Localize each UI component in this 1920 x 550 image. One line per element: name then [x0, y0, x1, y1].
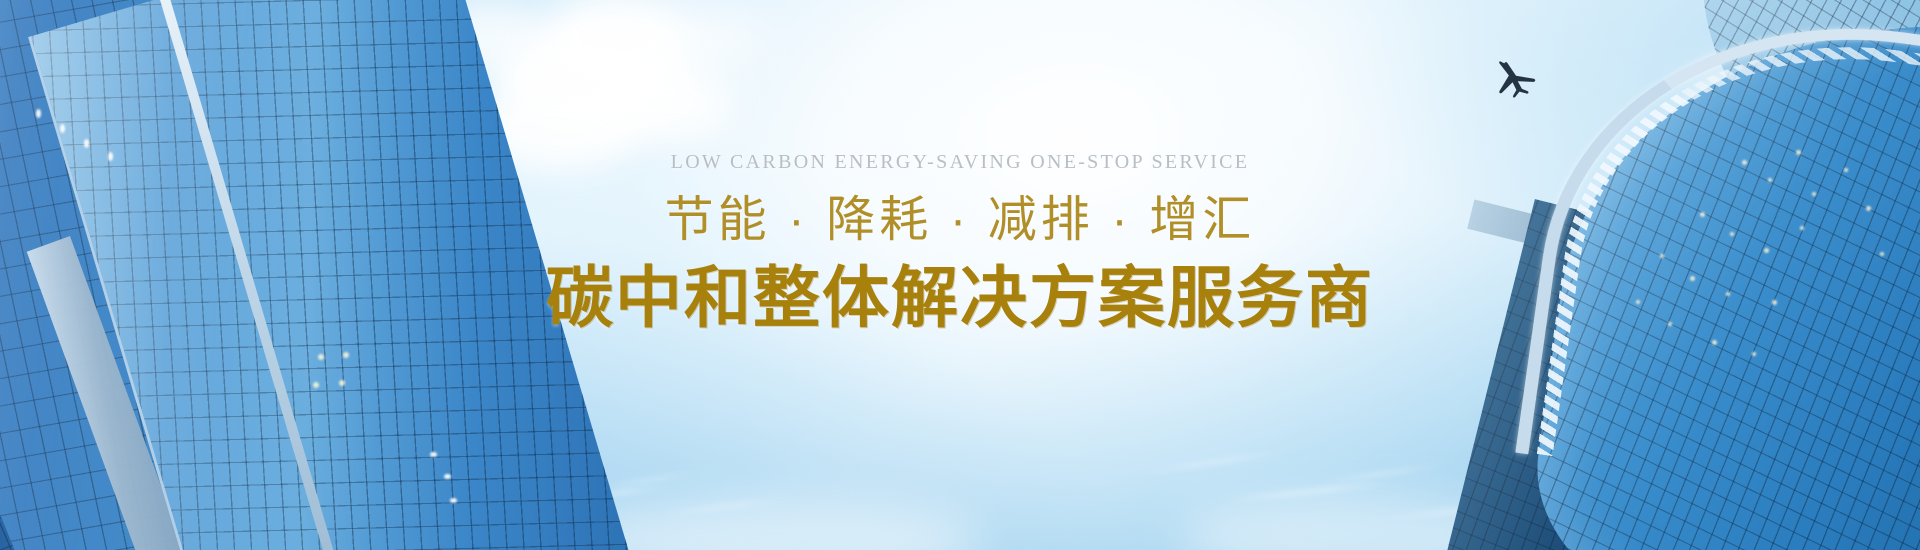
banner-headline: 碳中和整体解决方案服务商 [0, 261, 1920, 336]
banner-subline: 节能 · 降耗 · 减排 · 增汇 [0, 194, 1920, 247]
banner-eyebrow: LOW CARBON ENERGY-SAVING ONE-STOP SERVIC… [0, 152, 1920, 172]
hero-banner: LOW CARBON ENERGY-SAVING ONE-STOP SERVIC… [0, 0, 1920, 550]
banner-copy: LOW CARBON ENERGY-SAVING ONE-STOP SERVIC… [0, 152, 1920, 336]
